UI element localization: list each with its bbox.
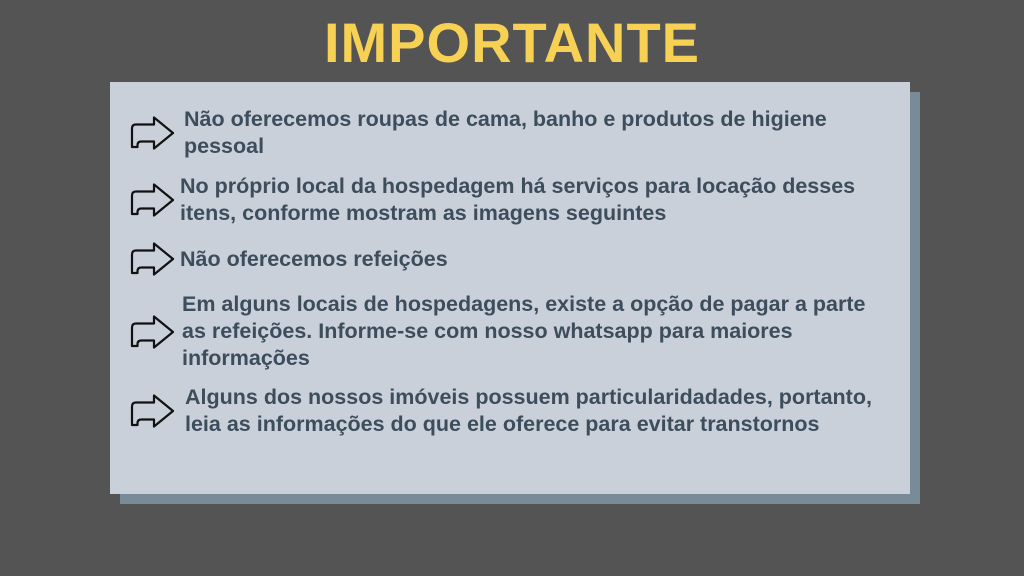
bullet-list: Não oferecemos roupas de cama, banho e p…: [124, 92, 896, 486]
list-item-label: Não oferecemos refeições: [180, 246, 896, 273]
list-item: Não oferecemos roupas de cama, banho e p…: [124, 106, 896, 160]
right-block-arrow-icon: [124, 181, 180, 219]
list-item-label: Alguns dos nossos imóveis possuem partic…: [180, 384, 896, 438]
list-item: Alguns dos nossos imóveis possuem partic…: [124, 384, 896, 438]
page-title: IMPORTANTE: [0, 14, 1024, 73]
right-block-arrow-icon: [124, 240, 180, 278]
list-item: Em alguns locais de hospedagens, existe …: [124, 291, 896, 372]
list-item-label: Em alguns locais de hospedagens, existe …: [180, 291, 896, 372]
list-item: No próprio local da hospedagem há serviç…: [124, 173, 896, 227]
list-item-label: No próprio local da hospedagem há serviç…: [180, 173, 896, 227]
right-block-arrow-icon: [124, 313, 180, 351]
right-block-arrow-icon: [124, 114, 180, 152]
content-panel: Não oferecemos roupas de cama, banho e p…: [110, 82, 910, 494]
presentation-slide: IMPORTANTE Não oferecemos roupas de cama…: [0, 0, 1024, 576]
list-item-label: Não oferecemos roupas de cama, banho e p…: [180, 106, 896, 160]
list-item: Não oferecemos refeições: [124, 240, 896, 278]
right-block-arrow-icon: [124, 392, 180, 430]
